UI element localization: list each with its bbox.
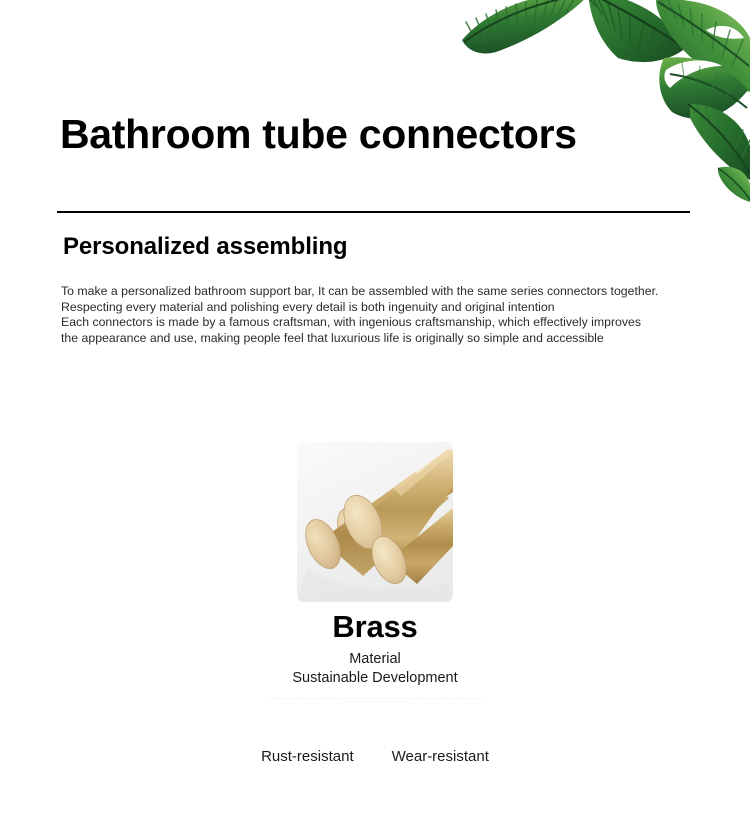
brass-rods-photo — [297, 442, 453, 602]
material-subtitle-line-2: Sustainable Development — [0, 669, 750, 688]
page-title: Bathroom tube connectors — [60, 112, 577, 157]
body-line: the appearance and use, making people fe… — [61, 331, 701, 347]
property-wear-resistant: Wear-resistant — [392, 748, 489, 765]
material-showcase: Brass Material Sustainable Development R… — [0, 442, 750, 724]
palm-leaves-icon — [460, 0, 750, 205]
property-rust-resistant: Rust-resistant — [261, 748, 354, 765]
section-heading: Personalized assembling — [63, 233, 347, 261]
faded-microcopy: Respecting every material and polishing … — [268, 698, 483, 724]
material-subtitle-line-1: Material — [0, 650, 750, 669]
material-properties: Rust-resistant Wear-resistant — [0, 748, 750, 765]
body-line: Each connectors is made by a famous craf… — [61, 315, 701, 331]
body-line: Respecting every material and polishing … — [61, 300, 701, 316]
divider — [57, 211, 690, 213]
material-subtitle: Material Sustainable Development — [0, 650, 750, 688]
section-body-copy: To make a personalized bathroom support … — [61, 284, 701, 346]
body-line: To make a personalized bathroom support … — [61, 284, 701, 300]
product-detail-page: Bathroom tube connectors Personalized as… — [0, 0, 750, 833]
material-name: Brass — [0, 608, 750, 646]
